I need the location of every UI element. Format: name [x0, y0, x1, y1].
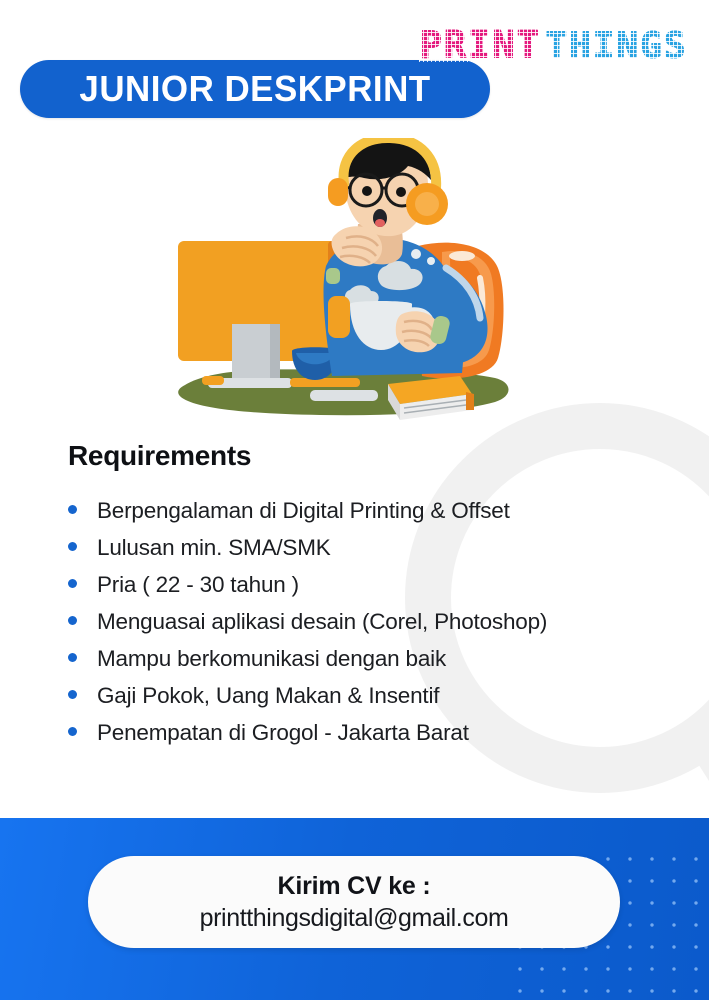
job-poster: JUNIOR DESKPRINT PRINT THINGS	[0, 0, 709, 1000]
list-item: Mampu berkomunikasi dengan baik	[68, 646, 709, 672]
list-item: Lulusan min. SMA/SMK	[68, 535, 709, 561]
bullet-icon	[68, 579, 77, 588]
job-title-text: JUNIOR DESKPRINT	[79, 68, 430, 110]
list-item: Menguasai aplikasi desain (Corel, Photos…	[68, 609, 709, 635]
list-item: Penempatan di Grogol - Jakarta Barat	[68, 720, 709, 746]
list-item-text: Lulusan min. SMA/SMK	[97, 535, 331, 561]
list-item: Pria ( 22 - 30 tahun )	[68, 572, 709, 598]
cv-card-title: Kirim CV ke :	[277, 872, 430, 901]
list-item-text: Mampu berkomunikasi dengan baik	[97, 646, 446, 672]
bullet-icon	[68, 542, 77, 551]
bullet-icon	[68, 505, 77, 514]
job-title-badge: JUNIOR DESKPRINT	[20, 60, 490, 118]
poster-header: JUNIOR DESKPRINT PRINT THINGS	[0, 0, 709, 140]
list-item-text: Menguasai aplikasi desain (Corel, Photos…	[97, 609, 547, 635]
brand-logo-things-wrap: THINGS	[545, 29, 687, 62]
list-item-text: Penempatan di Grogol - Jakarta Barat	[97, 720, 469, 746]
bullet-icon	[68, 690, 77, 699]
brand-logo-things: THINGS	[545, 29, 687, 62]
bullet-icon	[68, 616, 77, 625]
book-stack	[388, 376, 474, 420]
list-item-text: Gaji Pokok, Uang Makan & Insentif	[97, 683, 439, 709]
cv-contact-card: Kirim CV ke : printthingsdigital@gmail.c…	[88, 856, 620, 948]
brand-logo-print-wrap: PRINT	[419, 28, 540, 62]
list-item: Berpengalaman di Digital Printing & Offs…	[68, 498, 709, 524]
brand-logo: PRINT THINGS	[419, 28, 687, 62]
requirements-list: Berpengalaman di Digital Printing & Offs…	[0, 498, 709, 746]
bullet-icon	[68, 727, 77, 736]
list-item-text: Pria ( 22 - 30 tahun )	[97, 572, 299, 598]
requirements-heading: Requirements	[68, 440, 709, 472]
bullet-icon	[68, 653, 77, 662]
hero-illustration	[150, 138, 530, 430]
requirements-section: Requirements Berpengalaman di Digital Pr…	[0, 440, 709, 757]
list-item-text: Berpengalaman di Digital Printing & Offs…	[97, 498, 510, 524]
poster-footer: Kirim CV ke : printthingsdigital@gmail.c…	[0, 818, 709, 1000]
brand-logo-print: PRINT	[419, 28, 540, 62]
cv-card-email[interactable]: printthingsdigital@gmail.com	[200, 904, 509, 933]
list-item: Gaji Pokok, Uang Makan & Insentif	[68, 683, 709, 709]
